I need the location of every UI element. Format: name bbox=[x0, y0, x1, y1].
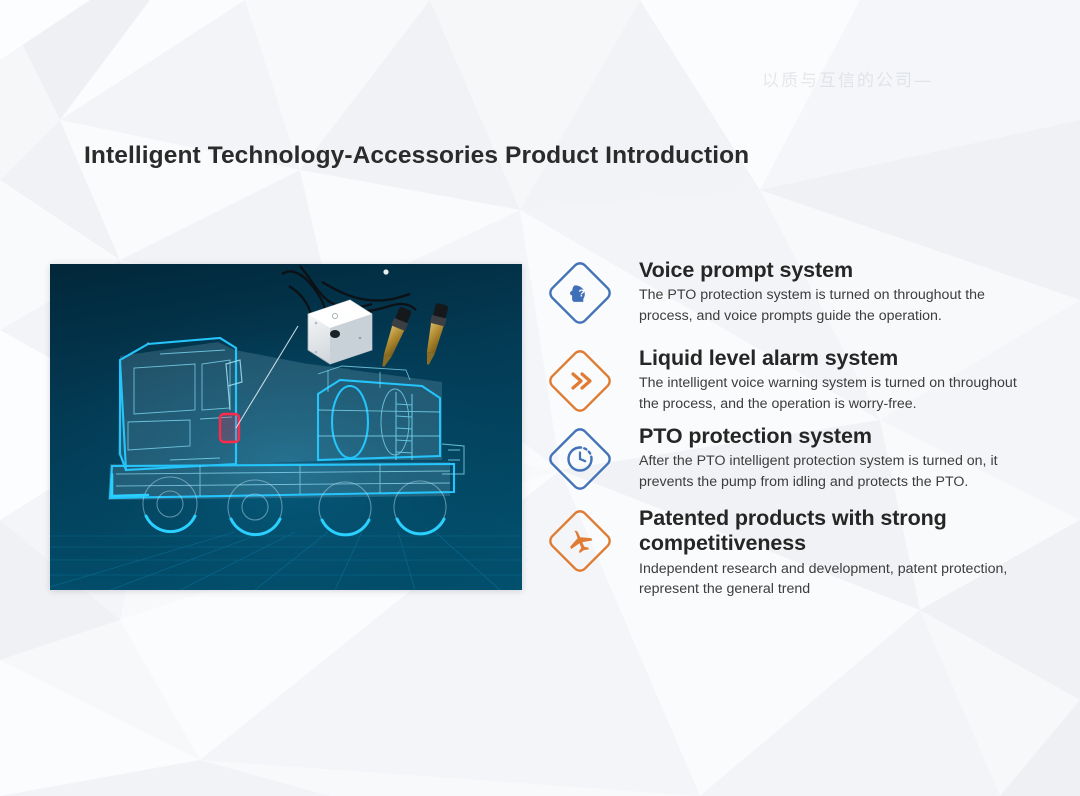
feature-item-pto-protection[interactable]: PTO protection system After the PTO inte… bbox=[543, 420, 1043, 496]
feature-item-liquid-level-alarm[interactable]: Liquid level alarm system The intelligen… bbox=[543, 342, 1043, 418]
feature-item-voice-prompt[interactable]: ? Voice prompt system The PTO protection… bbox=[543, 254, 1043, 330]
clock-timer-icon bbox=[543, 422, 617, 496]
feature-text-block: Patented products with strong competitiv… bbox=[617, 502, 1043, 599]
feature-text-block: PTO protection system After the PTO inte… bbox=[617, 420, 1043, 492]
slide-canvas: 以质与互信的公司— Intelligent Technology-Accesso… bbox=[0, 0, 1080, 796]
feature-text-block: Voice prompt system The PTO protection s… bbox=[617, 254, 1043, 326]
feature-description: The PTO protection system is turned on t… bbox=[639, 285, 1021, 325]
feature-description: The intelligent voice warning system is … bbox=[639, 373, 1021, 413]
airplane-icon bbox=[543, 504, 617, 578]
feature-title: PTO protection system bbox=[639, 424, 1043, 449]
feature-description: Independent research and development, pa… bbox=[639, 559, 1021, 599]
voice-head-question-icon: ? bbox=[543, 256, 617, 330]
wireframe-truck-illustration bbox=[50, 264, 522, 590]
feature-item-patented-products[interactable]: Patented products with strong competitiv… bbox=[543, 502, 1043, 599]
page-title: Intelligent Technology-Accessories Produ… bbox=[84, 142, 749, 170]
feature-list: ? Voice prompt system The PTO protection… bbox=[543, 254, 1043, 603]
feature-text-block: Liquid level alarm system The intelligen… bbox=[617, 342, 1043, 414]
cable-tip-dot bbox=[383, 269, 388, 274]
feature-title: Liquid level alarm system bbox=[639, 346, 1043, 371]
feature-title: Voice prompt system bbox=[639, 258, 1043, 283]
double-chevron-right-icon bbox=[543, 344, 617, 418]
svg-text:?: ? bbox=[578, 287, 584, 299]
watermark-text: 以质与互信的公司— bbox=[762, 66, 1062, 96]
feature-description: After the PTO intelligent protection sys… bbox=[639, 451, 1021, 491]
hero-image-wireframe-truck bbox=[50, 264, 522, 590]
feature-title: Patented products with strong competitiv… bbox=[639, 506, 1043, 557]
